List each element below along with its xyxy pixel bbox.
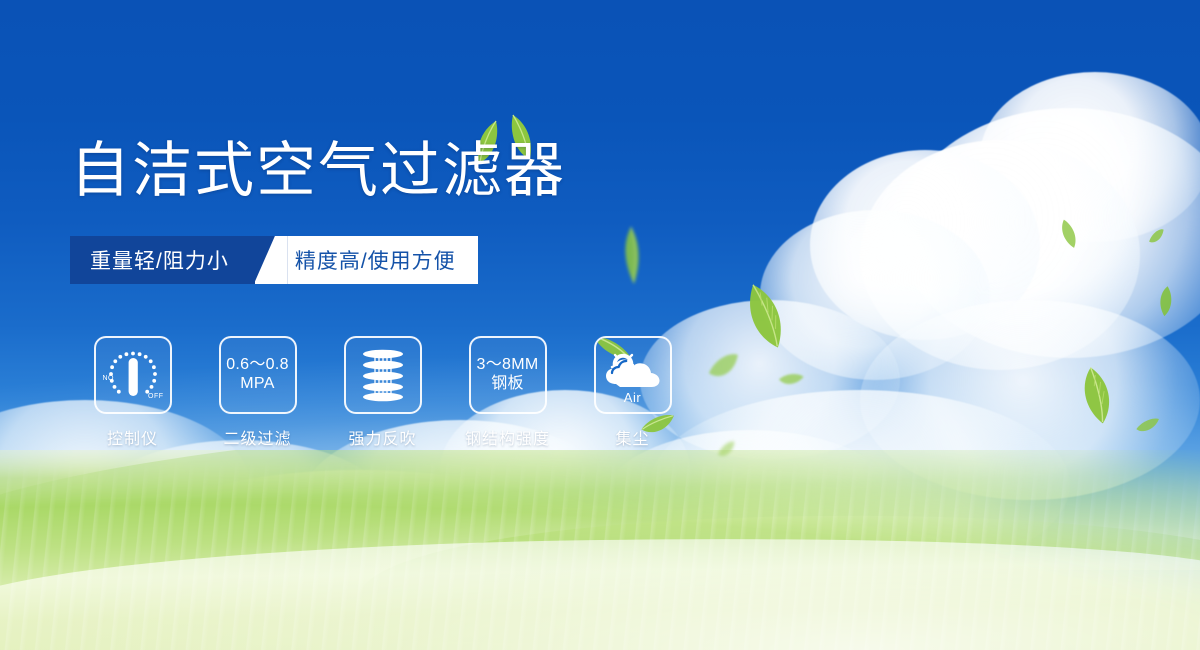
floating-leaf-icon <box>731 278 800 353</box>
feature-icon-box: 3～8MM 钢板 <box>469 336 547 414</box>
feature-caption: 控制仪 <box>107 425 158 449</box>
feature-caption: 二级过滤 <box>223 425 291 449</box>
floating-leaf-icon <box>703 349 744 386</box>
cloud-shape <box>900 108 1200 358</box>
feature-caption: 钢结构强度 <box>465 425 550 449</box>
feature-list: NO OFF 控制仪 0.6～0.8 MPA 二级过滤 <box>70 336 695 449</box>
filter-stack-icon <box>355 346 411 404</box>
grass-field <box>0 450 1200 650</box>
cloud-shape <box>810 150 1040 340</box>
floating-leaf-icon <box>618 226 644 288</box>
feature-icon-box <box>344 336 422 414</box>
air-label: Air <box>596 390 670 405</box>
floating-leaf-icon <box>1064 362 1130 429</box>
feature-caption: 强力反吹 <box>348 425 416 449</box>
feature-icon-box: Air <box>594 336 672 414</box>
feature-item-two-stage-filter[interactable]: 0.6～0.8 MPA 二级过滤 <box>195 336 320 449</box>
subtitle-left-text: 重量轻/阻力小 <box>70 236 255 284</box>
feature-item-steel-strength[interactable]: 3～8MM 钢板 钢结构强度 <box>445 336 570 449</box>
floating-leaf-icon <box>777 369 805 390</box>
feature-item-backblow[interactable]: 强力反吹 <box>320 336 445 449</box>
feature-caption: 集尘 <box>615 425 649 449</box>
floating-leaf-icon <box>1145 227 1169 248</box>
floating-leaf-icon <box>1151 283 1178 318</box>
subtitle-divider-slant <box>254 236 288 284</box>
feature-item-dust-collection[interactable]: Air 集尘 <box>570 336 695 449</box>
dial-on-label: NO <box>103 375 115 382</box>
steel-plate-text-icon: 3～8MM 钢板 <box>477 356 539 393</box>
pressure-text-icon: 0.6～0.8 MPA <box>226 356 289 393</box>
page-title: 自洁式空气过滤器 <box>70 141 566 201</box>
cloud-shape <box>860 140 1140 370</box>
subtitle-bar: 重量轻/阻力小 精度高/使用方便 <box>70 236 478 284</box>
feature-icon-box: NO OFF <box>94 336 172 414</box>
product-hero-banner: 自洁式空气过滤器 重量轻/阻力小 精度高/使用方便 <box>0 0 1200 650</box>
floating-leaf-icon <box>1053 216 1083 253</box>
cloud-shape <box>760 210 990 380</box>
feature-item-control-dial[interactable]: NO OFF 控制仪 <box>70 336 195 449</box>
feature-icon-box: 0.6～0.8 MPA <box>219 336 297 414</box>
cloud-shape <box>980 72 1200 242</box>
floating-leaf-icon <box>1134 416 1162 436</box>
dial-off-label: OFF <box>148 393 164 400</box>
subtitle-right-text: 精度高/使用方便 <box>287 236 478 284</box>
